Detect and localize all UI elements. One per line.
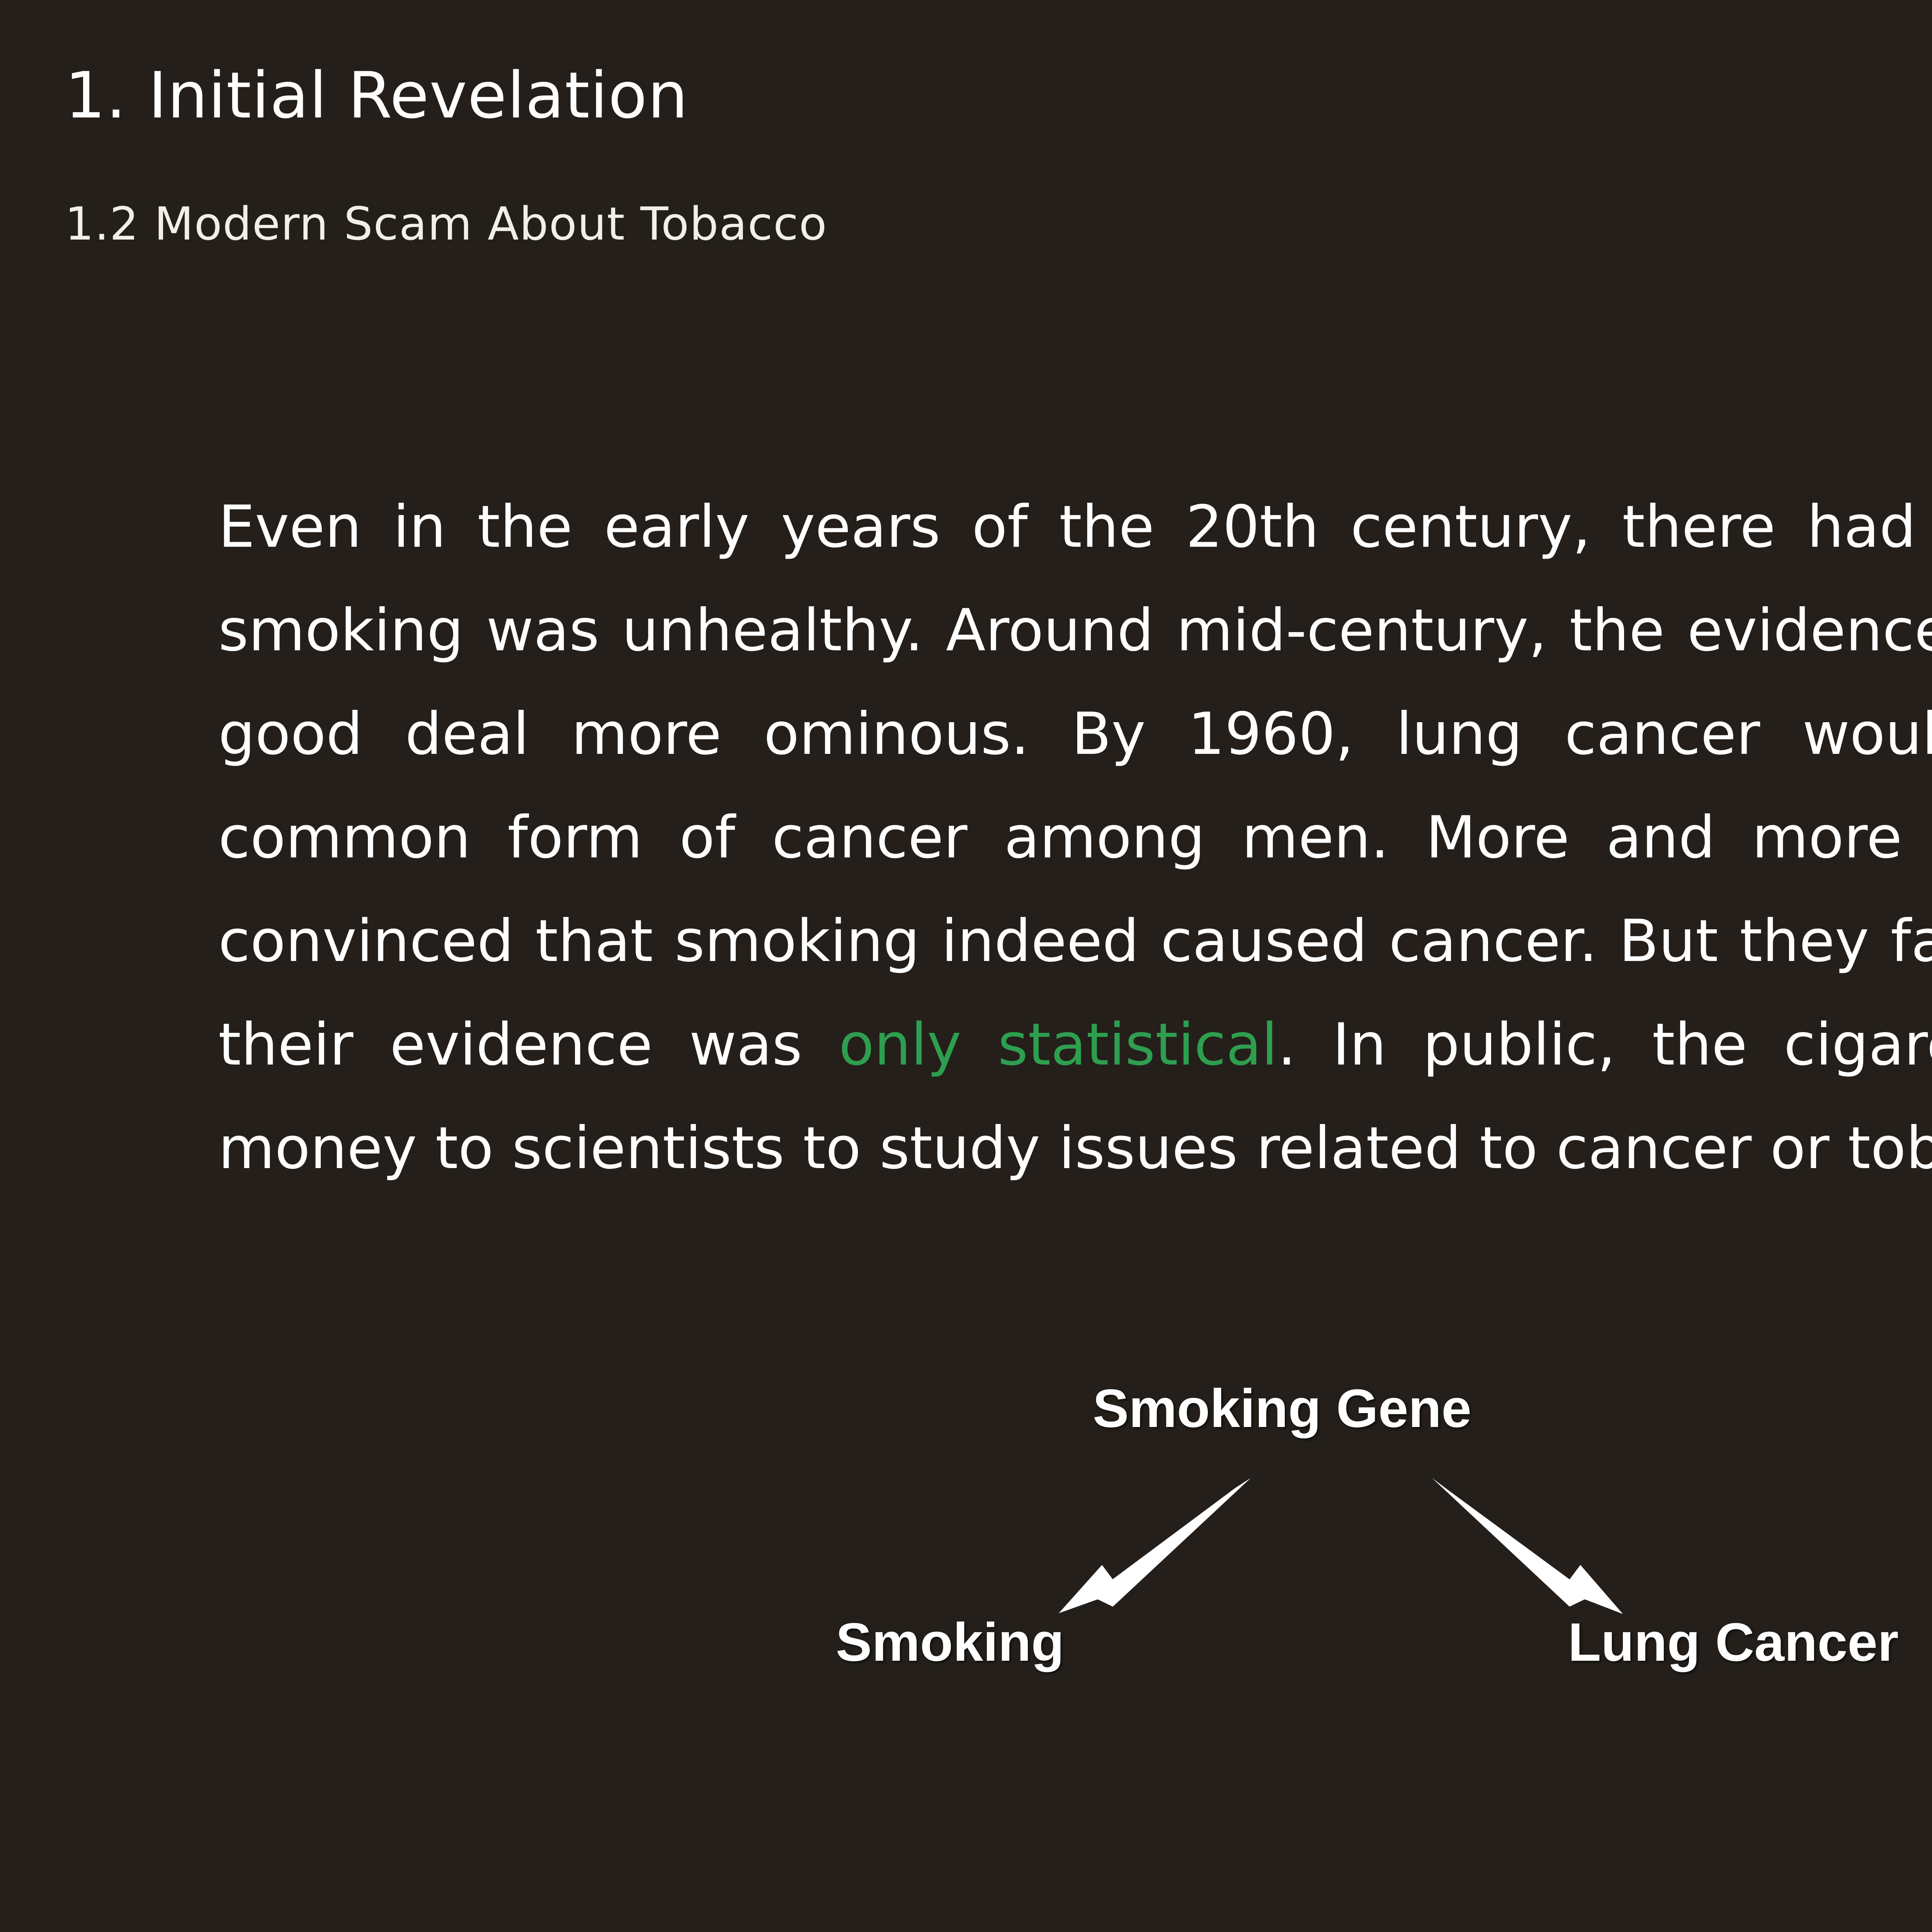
edge-gene-to-smoking [1059,1478,1251,1613]
diagram-node-smoking: Smoking [836,1615,1064,1669]
body-paragraph: Even in the early years of the 20th cent… [218,475,1932,1200]
section-number: 1. [65,58,126,133]
paragraph-text-before-highlight: Even in the early years of the 20th cent… [218,493,1932,1078]
edge-gene-to-cancer [1432,1478,1623,1614]
section-title: Initial Revelation [148,58,688,133]
causal-diagram: Smoking Gene Smoking Lung Cancer [0,1360,1932,1708]
diagram-node-lung-cancer: Lung Cancer [1568,1615,1899,1669]
diagram-node-smoking-gene: Smoking Gene [1093,1381,1471,1435]
highlighted-phrase: only statistical [839,1011,1278,1078]
slide-header: 1.Initial Revelation 1.2 Modern Scam Abo… [0,0,1932,348]
page-title: 1.Initial Revelation [65,64,688,128]
subsection-title: 1.2 Modern Scam About Tobacco [65,201,827,247]
beamer-slide: 1.Initial Revelation 1.2 Modern Scam Abo… [0,0,1932,1932]
